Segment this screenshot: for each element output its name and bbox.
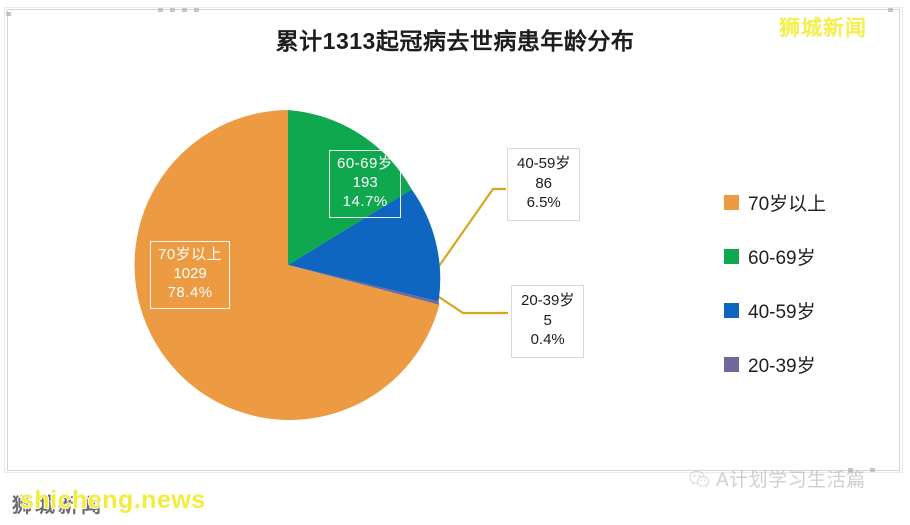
- callout-20-39-value: 5: [521, 311, 574, 331]
- watermark-bottom-left-url: shicheng.news: [20, 486, 206, 515]
- legend-label-40-59: 40-59岁: [748, 297, 816, 324]
- slice-label-60-69-value: 193: [337, 174, 393, 193]
- legend-label-20-39: 20-39岁: [748, 351, 816, 378]
- slice-label-60-69-name: 60-69岁: [337, 155, 393, 174]
- legend-swatch-70-plus: [724, 195, 739, 210]
- callout-40-59-name: 40-59岁: [517, 154, 570, 174]
- resize-handle-top-4[interactable]: [194, 8, 199, 12]
- slice-label-70-plus-name: 70岁以上: [158, 246, 222, 265]
- screenshot-canvas: 累计1313起冠病去世病患年龄分布 70岁以上 1029 78.4% 60-69…: [0, 0, 910, 525]
- slice-label-60-69[interactable]: 60-69岁 193 14.7%: [329, 150, 401, 218]
- legend-item-40-59[interactable]: 40-59岁: [724, 283, 826, 337]
- legend-item-70-plus[interactable]: 70岁以上: [724, 175, 826, 229]
- callout-40-59-value: 86: [517, 174, 570, 194]
- slice-label-60-69-percent: 14.7%: [337, 193, 393, 212]
- callout-label-40-59[interactable]: 40-59岁 86 6.5%: [507, 148, 580, 221]
- resize-handle-top-right[interactable]: [888, 8, 893, 12]
- wechat-account-name: A计划学习生活篇: [716, 465, 866, 492]
- callout-20-39-percent: 0.4%: [521, 330, 574, 350]
- resize-handle-left-1[interactable]: [6, 12, 11, 16]
- watermark-top-right: 狮城新闻: [779, 12, 867, 42]
- chart-title: 累计1313起冠病去世病患年龄分布: [0, 22, 910, 56]
- legend-swatch-60-69: [724, 249, 739, 264]
- legend-label-70-plus: 70岁以上: [748, 189, 826, 216]
- resize-handle-top-1[interactable]: [158, 8, 163, 12]
- wechat-icon: [688, 468, 710, 490]
- resize-handle-top-3[interactable]: [182, 8, 187, 12]
- slice-label-70-plus-value: 1029: [158, 265, 222, 284]
- slice-label-70-plus-percent: 78.4%: [158, 284, 222, 303]
- legend-item-20-39[interactable]: 20-39岁: [724, 337, 826, 391]
- wechat-account-line: A计划学习生活篇: [688, 465, 866, 492]
- watermark-bottom-left: 狮城新闻 shicheng.news: [12, 486, 272, 520]
- resize-handle-bottom-right-2[interactable]: [870, 468, 875, 472]
- callout-20-39-name: 20-39岁: [521, 291, 574, 311]
- resize-handle-top-2[interactable]: [170, 8, 175, 12]
- legend-label-60-69: 60-69岁: [748, 243, 816, 270]
- legend-swatch-40-59: [724, 303, 739, 318]
- legend-item-60-69[interactable]: 60-69岁: [724, 229, 826, 283]
- callout-label-20-39[interactable]: 20-39岁 5 0.4%: [511, 285, 584, 358]
- slice-label-70-plus[interactable]: 70岁以上 1029 78.4%: [150, 241, 230, 309]
- callout-40-59-percent: 6.5%: [517, 193, 570, 213]
- legend-swatch-20-39: [724, 357, 739, 372]
- chart-legend: 70岁以上 60-69岁 40-59岁 20-39岁: [724, 175, 826, 391]
